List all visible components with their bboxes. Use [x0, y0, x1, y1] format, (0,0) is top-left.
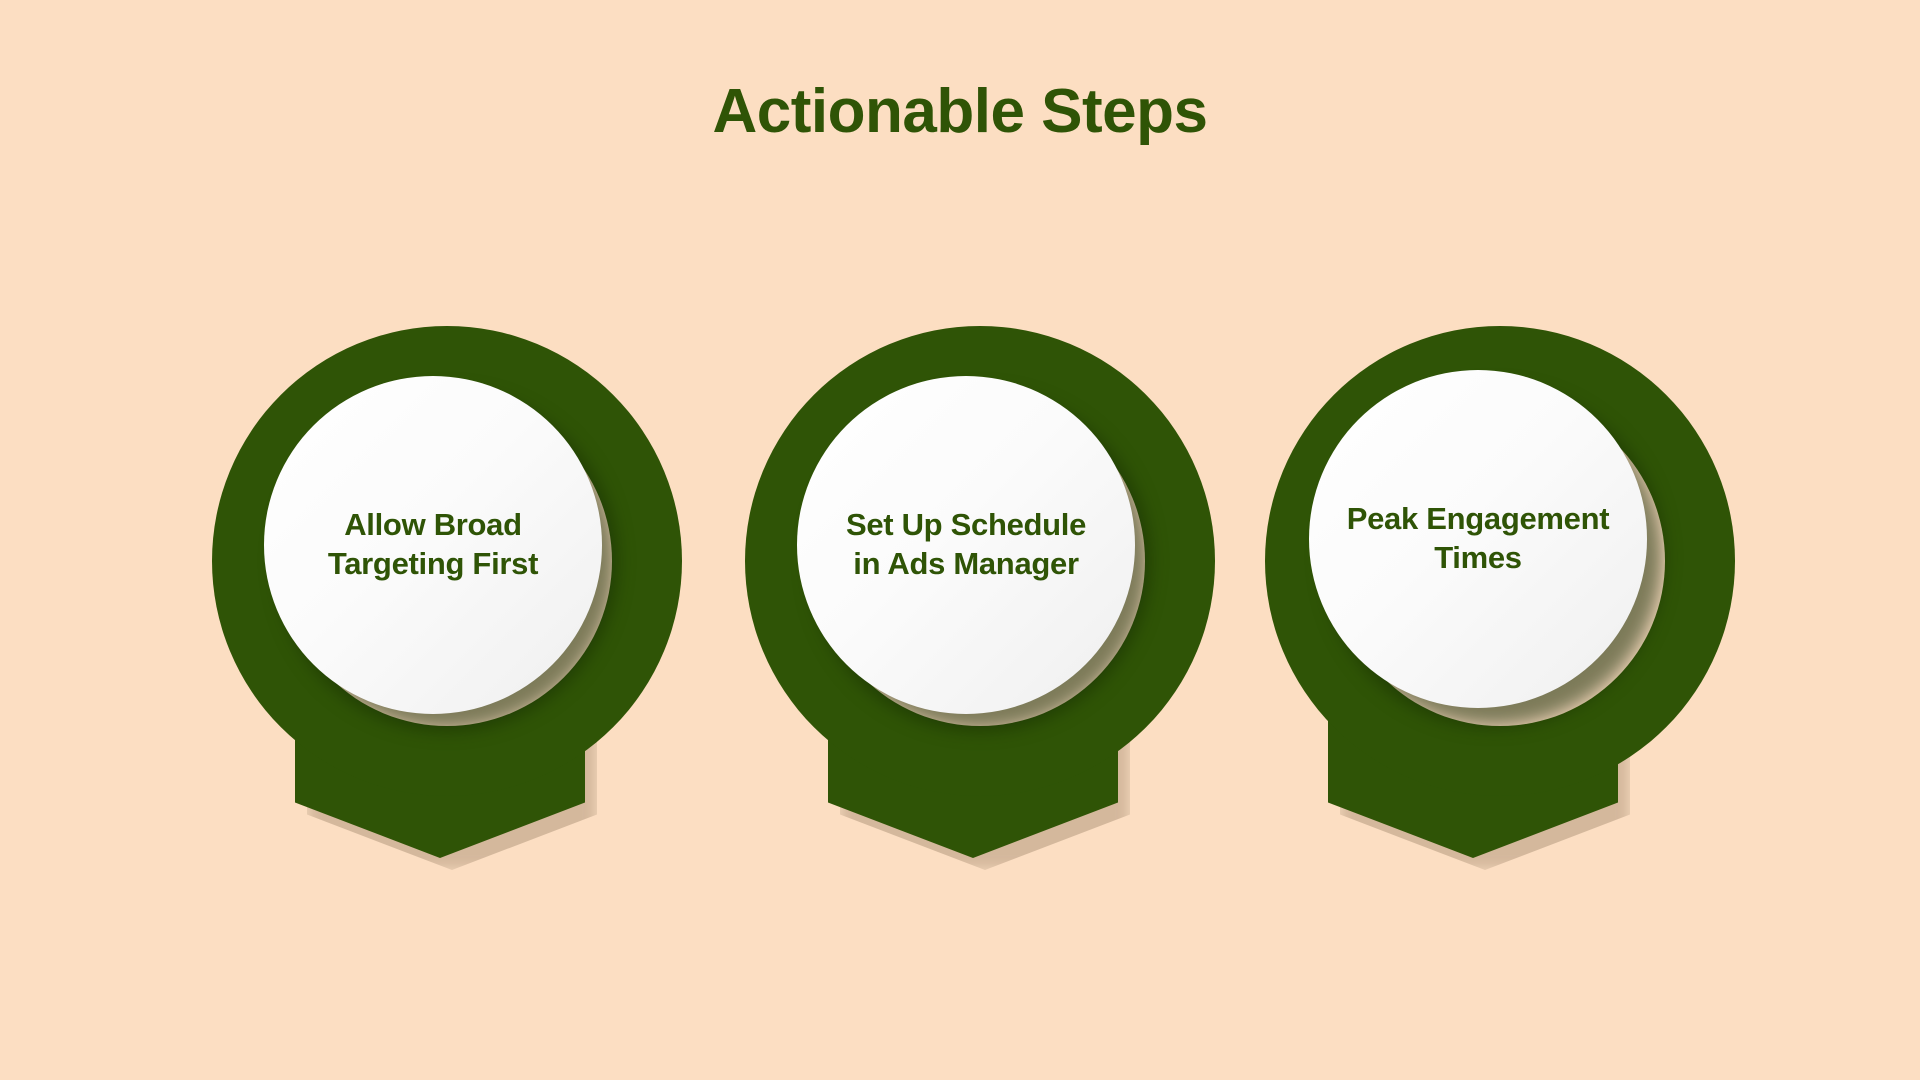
step-label-line-2: Targeting First — [328, 545, 538, 584]
step-item-1[interactable]: Allow Broad Targeting First — [212, 326, 682, 906]
step-item-3[interactable]: Peak Engagement Times — [1265, 326, 1735, 906]
steps-row: Allow Broad Targeting First Set Up Sched… — [0, 0, 1920, 1080]
step-label-line-1: Peak Engagement — [1347, 500, 1610, 539]
infographic-slide: Actionable Steps Allow Broad Targeting F… — [0, 0, 1920, 1080]
step-label-1: Allow Broad Targeting First — [264, 376, 602, 714]
step-label-3: Peak Engagement Times — [1303, 370, 1653, 708]
step-label-line-1: Set Up Schedule — [846, 506, 1086, 545]
step-item-2[interactable]: Set Up Schedule in Ads Manager — [745, 326, 1215, 906]
step-label-line-2: Times — [1347, 539, 1610, 578]
step-label-line-2: in Ads Manager — [846, 545, 1086, 584]
step-label-2: Set Up Schedule in Ads Manager — [797, 376, 1135, 714]
step-label-line-1: Allow Broad — [328, 506, 538, 545]
